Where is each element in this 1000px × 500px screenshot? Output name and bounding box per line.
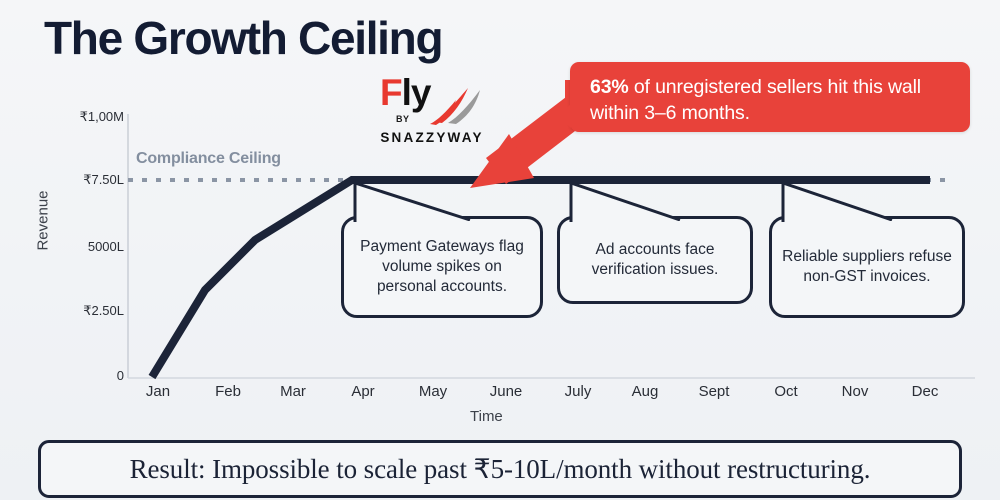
x-tick-label: Dec: [890, 383, 960, 400]
x-tick-label: Sept: [679, 383, 749, 400]
y-axis-ticks: ₹1,00M ₹7.50L 5000L ₹2.50L 0: [48, 0, 124, 440]
x-tick-label: June: [471, 383, 541, 400]
result-text: Result: Impossible to scale past ₹5-10L/…: [130, 454, 871, 485]
x-tick-label: Mar: [258, 383, 328, 400]
y-tick-label: 5000L: [52, 239, 124, 254]
y-tick-label: 0: [52, 368, 124, 383]
bubble-tail-suppliers: [780, 180, 905, 226]
logo-letter-l: l: [402, 72, 411, 113]
x-tick-label: May: [398, 383, 468, 400]
callout-highlight: 63%: [590, 76, 629, 98]
y-tick-label: ₹2.50L: [52, 303, 124, 319]
bubble-suppliers: Reliable suppliers refuse non-GST invoic…: [769, 216, 965, 318]
x-tick-label: Oct: [751, 383, 821, 400]
x-tick-label: July: [543, 383, 613, 400]
callout-tail: [557, 104, 571, 128]
x-tick-label: Jan: [123, 383, 193, 400]
callout-text: 63% of unregistered sellers hit this wal…: [590, 75, 956, 126]
logo-by-text: BY: [396, 114, 410, 124]
logo-wordmark: Fly: [380, 74, 430, 111]
x-tick-label: Aug: [610, 383, 680, 400]
logo-letter-f: F: [380, 72, 402, 113]
statistic-callout: 63% of unregistered sellers hit this wal…: [570, 62, 970, 132]
bubble-text: Payment Gateways flag volume spikes on p…: [354, 237, 530, 297]
x-tick-label: Apr: [328, 383, 398, 400]
bubble-text: Ad accounts face verification issues.: [570, 240, 740, 280]
infographic-root: The Growth Ceiling Revenue ₹1,00M ₹7.50L…: [0, 0, 1000, 500]
bubble-ad-accounts: Ad accounts face verification issues.: [557, 216, 753, 304]
compliance-ceiling-label: Compliance Ceiling: [136, 150, 281, 168]
x-tick-label: Nov: [820, 383, 890, 400]
bubble-text: Reliable suppliers refuse non-GST invoic…: [782, 247, 952, 287]
callout-body: of unregistered sellers hit this wall wi…: [590, 76, 921, 124]
y-tick-label: ₹1,00M: [52, 109, 124, 125]
bubble-payment-gateways: Payment Gateways flag volume spikes on p…: [341, 216, 543, 318]
x-tick-label: Feb: [193, 383, 263, 400]
x-axis-title: Time: [470, 408, 503, 425]
x-axis-ticks: Jan Feb Mar Apr May June July Aug Sept O…: [0, 383, 1000, 407]
y-tick-label: ₹7.50L: [52, 172, 124, 188]
result-banner: Result: Impossible to scale past ₹5-10L/…: [38, 440, 962, 498]
